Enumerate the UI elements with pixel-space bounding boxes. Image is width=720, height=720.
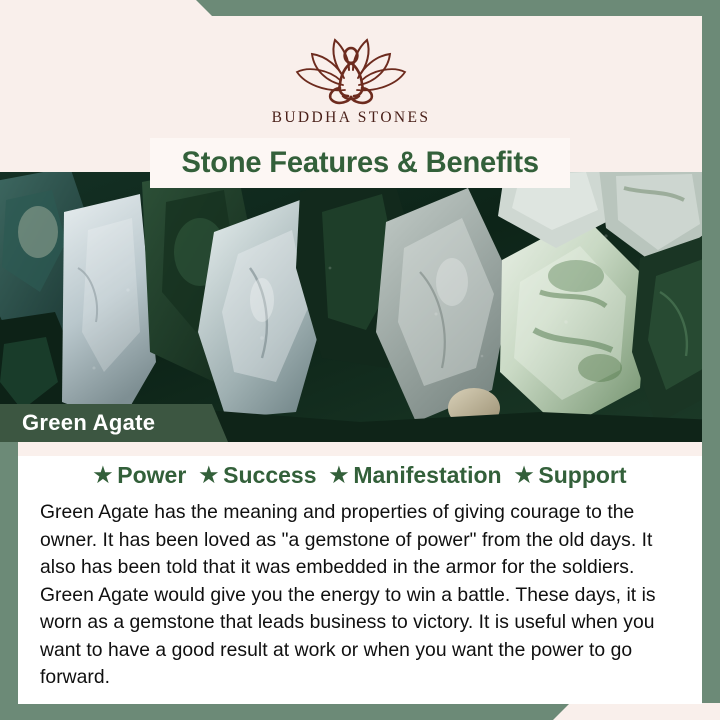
card-body: ★ Power ★ Success ★ Manifestation ★ Supp…	[0, 442, 702, 704]
left-green-rail	[0, 442, 18, 704]
bottom-right-corner-wedge	[520, 703, 720, 720]
info-card: BUDDHA STONES Stone Features & Benefits	[0, 16, 702, 704]
lotus-meditation-icon	[285, 30, 417, 108]
benefit-label: Success	[223, 462, 316, 489]
brand-name: BUDDHA STONES	[272, 109, 431, 127]
stone-name-banner: Green Agate	[0, 404, 228, 442]
star-icon: ★	[330, 465, 349, 486]
benefit-item-manifestation: ★ Manifestation	[330, 462, 502, 489]
body-content: ★ Power ★ Success ★ Manifestation ★ Supp…	[18, 442, 702, 692]
title-plate: Stone Features & Benefits	[150, 138, 570, 188]
benefit-label: Power	[117, 462, 186, 489]
outer-green-frame: BUDDHA STONES Stone Features & Benefits	[0, 0, 720, 720]
benefit-label: Manifestation	[353, 462, 501, 489]
stone-description: Green Agate has the meaning and properti…	[40, 499, 677, 692]
brand-logo: BUDDHA STONES	[0, 30, 702, 127]
stone-photo: Green Agate	[0, 172, 702, 442]
green-agate-stones-image	[0, 172, 702, 442]
star-icon: ★	[515, 465, 534, 486]
star-icon: ★	[93, 465, 112, 486]
card-header: BUDDHA STONES Stone Features & Benefits	[0, 16, 702, 172]
benefit-item-success: ★ Success	[199, 462, 316, 489]
star-icon: ★	[199, 465, 218, 486]
top-left-corner-wedge	[0, 0, 215, 17]
page-title: Stone Features & Benefits	[181, 146, 538, 180]
benefit-item-power: ★ Power	[93, 462, 186, 489]
benefits-list: ★ Power ★ Success ★ Manifestation ★ Supp…	[40, 462, 680, 489]
benefit-label: Support	[538, 462, 626, 489]
benefit-item-support: ★ Support	[515, 462, 627, 489]
stone-name-label: Green Agate	[22, 410, 155, 436]
